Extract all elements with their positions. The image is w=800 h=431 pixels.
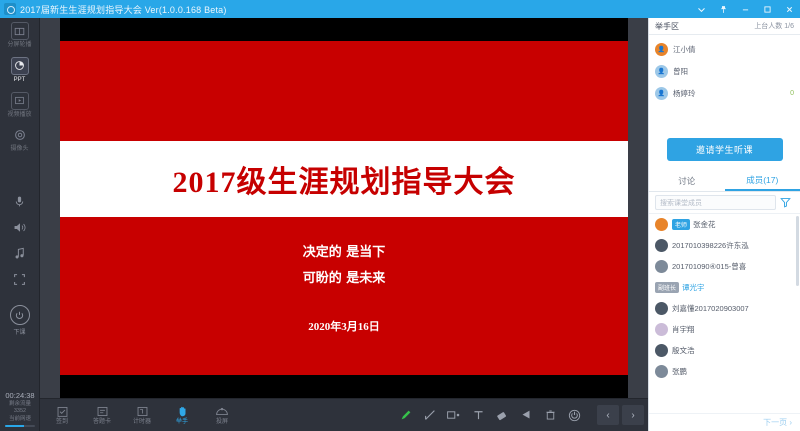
rail-fullscreen-button[interactable] xyxy=(0,269,40,295)
bottom-item-label: 投屏 xyxy=(216,418,228,426)
avatar xyxy=(655,323,668,336)
hand-list-item-score: 0 xyxy=(790,90,794,97)
hand-list-item[interactable]: 👤 杨婷玲 0 xyxy=(649,82,800,104)
list-item[interactable]: 老师 张金花 xyxy=(649,214,800,235)
bottom-item-label: 举手 xyxy=(176,418,188,426)
right-panel: 举手区 上台人数 1/6 👤 江小倩 👤 曾阳 👤 杨婷玲 0 邀请学生听课 讨… xyxy=(648,18,800,431)
rail-item-label: 分屏轮播 xyxy=(7,42,31,50)
bottom-item-raise-hand[interactable]: 举手 xyxy=(164,399,200,431)
avatar xyxy=(655,218,668,231)
presentation-slide[interactable]: 2017级生涯规划指导大会 决定的 是当下 可盼的 是未来 2020年3月16日 xyxy=(60,18,628,398)
rail-item-ppt[interactable]: PPT xyxy=(0,53,40,88)
list-item[interactable]: 2017010398226许东泓 xyxy=(649,235,800,256)
timer-value: 00:24:38 xyxy=(0,391,40,401)
bottom-toolbar: 签到 答题卡 计时器 举手 投屏 xyxy=(40,398,648,431)
invite-students-button[interactable]: 邀请学生听课 xyxy=(667,138,783,161)
close-icon[interactable] xyxy=(778,0,800,18)
hand-list-item-name: 曾阳 xyxy=(673,66,688,77)
list-item[interactable]: 201701090④015-曾喜 xyxy=(649,256,800,277)
search-input[interactable]: 搜索课堂成员 xyxy=(655,195,776,210)
bottom-item-answer-card[interactable]: 答题卡 xyxy=(84,399,120,431)
rail-microphone-button[interactable] xyxy=(0,191,40,217)
rail-item-label: 视频播放 xyxy=(7,112,31,120)
list-item[interactable]: 殷文浩 xyxy=(649,340,800,361)
answer-card-icon xyxy=(96,404,109,418)
slide-subtitle-line-1: 决定的 是当下 xyxy=(60,240,628,266)
member-list[interactable]: 老师 张金花 2017010398226许东泓 201701090④015-曾喜… xyxy=(649,214,800,413)
invite-area: 邀请学生听课 xyxy=(649,130,800,170)
list-item[interactable]: 刘嘉懂2017020903007 xyxy=(649,298,800,319)
speaker-icon xyxy=(13,221,27,239)
member-name: 2017010398226许东泓 xyxy=(672,240,749,251)
rail-music-button[interactable] xyxy=(0,243,40,269)
eraser-tool-icon[interactable] xyxy=(490,399,514,431)
ppt-icon xyxy=(11,57,29,75)
bottom-item-timer[interactable]: 计时器 xyxy=(124,399,160,431)
end-class-label: 下课 xyxy=(13,327,25,336)
slide-subtitle-line-2: 可盼的 是未来 xyxy=(60,266,628,292)
member-search-row: 搜索课堂成员 xyxy=(649,192,800,214)
avatar xyxy=(655,365,668,378)
member-badge: 副班长 xyxy=(655,282,679,293)
raise-hand-list: 👤 江小倩 👤 曾阳 👤 杨婷玲 0 xyxy=(649,35,800,130)
checkin-icon xyxy=(56,404,69,418)
bottom-item-cast-screen[interactable]: 投屏 xyxy=(204,399,240,431)
rail-item-label: 摄像头 xyxy=(10,146,28,154)
raise-hand-title: 举手区 xyxy=(655,21,679,32)
hand-list-item-name: 江小倩 xyxy=(673,44,696,55)
bottom-item-label: 答题卡 xyxy=(93,418,111,426)
member-name: 谭光宇 xyxy=(682,282,705,293)
list-item[interactable]: 张鹏 xyxy=(649,361,800,382)
power-icon[interactable] xyxy=(562,399,586,431)
network-bar xyxy=(5,425,35,427)
avatar xyxy=(655,260,668,273)
left-tool-rail: 分屏轮播 PPT 视频播放 摄像头 xyxy=(0,18,40,431)
slide-stage: 2017级生涯规划指导大会 决定的 是当下 可盼的 是未来 2020年3月16日 xyxy=(40,18,648,398)
avatar xyxy=(655,239,668,252)
window-controls xyxy=(690,0,800,18)
timer-sub-1: 剩余流量 xyxy=(0,401,40,408)
text-tool-icon[interactable] xyxy=(466,399,490,431)
prev-slide-button[interactable]: ‹ xyxy=(597,405,619,425)
avatar: 👤 xyxy=(655,43,668,56)
timer-sub-3: 当前网速 xyxy=(0,416,40,423)
power-circle-icon xyxy=(10,305,30,325)
music-note-icon xyxy=(14,247,26,265)
avatar xyxy=(655,344,668,357)
camera-icon xyxy=(11,126,29,144)
undo-icon[interactable] xyxy=(514,399,538,431)
member-name: 张鹏 xyxy=(672,366,687,377)
member-badge: 老师 xyxy=(672,219,690,230)
shape-tool-icon[interactable] xyxy=(442,399,466,431)
rail-item-split-screen[interactable]: 分屏轮播 xyxy=(0,18,40,53)
member-name: 殷文浩 xyxy=(672,345,695,356)
member-list-scrollbar[interactable] xyxy=(796,216,799,286)
window-title: 2017届新生生涯规划指导大会 Ver(1.0.0.168 Beta) xyxy=(20,3,227,16)
video-play-icon xyxy=(11,92,29,110)
rail-item-video-play[interactable]: 视频播放 xyxy=(0,88,40,123)
chevron-down-icon[interactable] xyxy=(690,0,712,18)
cast-screen-icon xyxy=(215,404,229,418)
member-name: 201701090④015-曾喜 xyxy=(672,261,746,272)
next-page-link[interactable]: 下一页 › xyxy=(649,413,800,431)
title-bar: 2017届新生生涯规划指导大会 Ver(1.0.0.168 Beta) xyxy=(0,0,800,18)
avatar xyxy=(655,302,668,315)
annotation-tools: ‹ › xyxy=(394,399,648,431)
raise-hand-icon xyxy=(176,404,189,418)
app-window: 2017届新生生涯规划指导大会 Ver(1.0.0.168 Beta) xyxy=(0,0,800,431)
slide-pager: ‹ › xyxy=(594,405,644,425)
member-name: 肖宇翔 xyxy=(672,324,695,335)
panel-tabs: 讨论 成员(17) xyxy=(649,170,800,192)
slide-subtitle: 决定的 是当下 可盼的 是未来 xyxy=(60,240,628,292)
hand-list-item[interactable]: 👤 江小倩 xyxy=(649,38,800,60)
list-item[interactable]: 肖宇翔 xyxy=(649,319,800,340)
minimize-icon[interactable] xyxy=(734,0,756,18)
avatar: 👤 xyxy=(655,65,668,78)
raise-hand-header: 举手区 上台人数 1/6 xyxy=(649,18,800,35)
microphone-icon xyxy=(13,195,26,213)
rail-item-label: PPT xyxy=(14,77,26,85)
member-name: 刘嘉懂2017020903007 xyxy=(672,303,749,314)
timer-sub-2: 3352 xyxy=(0,408,40,415)
rail-speaker-button[interactable] xyxy=(0,217,40,243)
app-logo-icon xyxy=(4,3,16,15)
tab-members[interactable]: 成员(17) xyxy=(725,170,800,191)
avatar: 👤 xyxy=(655,87,668,100)
class-timer: 00:24:38 剩余流量 3352 当前网速 xyxy=(0,391,40,427)
filter-icon[interactable] xyxy=(776,197,794,208)
trash-icon[interactable] xyxy=(538,399,562,431)
tab-discussion[interactable]: 讨论 xyxy=(649,170,725,191)
member-name: 张金花 xyxy=(693,219,716,230)
split-screen-icon xyxy=(11,22,29,40)
stage-count-label: 上台人数 1/6 xyxy=(754,21,794,31)
fullscreen-icon xyxy=(13,273,26,291)
timer-icon xyxy=(136,404,149,418)
list-item[interactable]: 副班长 谭光宇 xyxy=(649,277,800,298)
pen-tool-icon[interactable] xyxy=(394,399,418,431)
pin-icon[interactable] xyxy=(712,0,734,18)
end-class-button[interactable]: 下课 xyxy=(10,305,30,336)
slide-title: 2017级生涯规划指导大会 xyxy=(60,141,628,217)
hand-list-item[interactable]: 👤 曾阳 xyxy=(649,60,800,82)
maximize-icon[interactable] xyxy=(756,0,778,18)
next-slide-button[interactable]: › xyxy=(622,405,644,425)
line-tool-icon[interactable] xyxy=(418,399,442,431)
bottom-item-label: 计时器 xyxy=(133,418,151,426)
hand-list-item-name: 杨婷玲 xyxy=(673,88,696,99)
slide-date: 2020年3月16日 xyxy=(60,318,628,334)
bottom-item-checkin[interactable]: 签到 xyxy=(44,399,80,431)
rail-item-camera[interactable]: 摄像头 xyxy=(0,122,40,157)
bottom-item-label: 签到 xyxy=(56,418,68,426)
